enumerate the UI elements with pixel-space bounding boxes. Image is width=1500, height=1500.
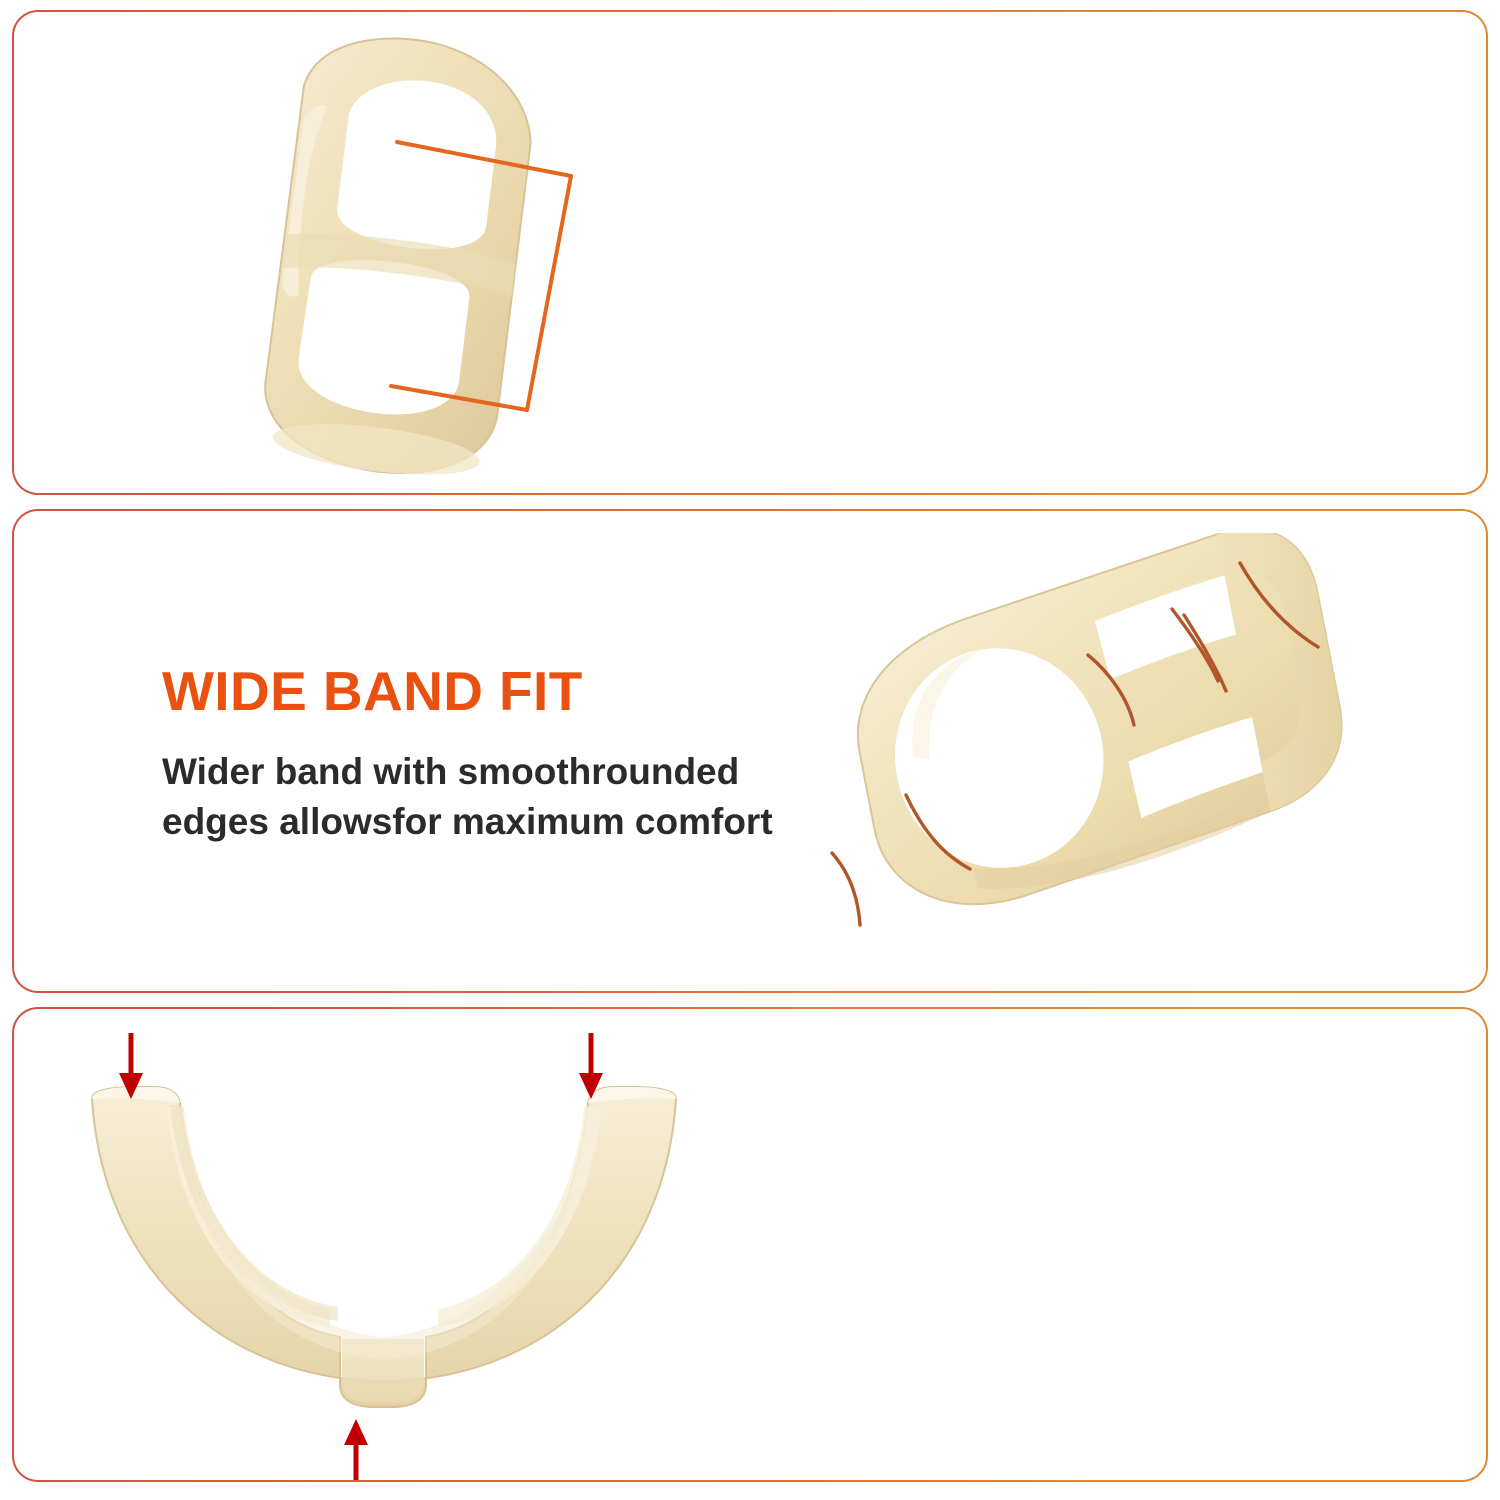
bracket-outline xyxy=(391,142,571,410)
panel-inner: WIDE BAND FIT Wider band with smoothroun… xyxy=(14,511,1486,991)
feature-text-wide-band-fit: WIDE BAND FIT Wider band with smoothroun… xyxy=(162,662,792,847)
product-image-open-air-design xyxy=(14,12,814,493)
panel-inner: 3POINTS OF PRESSURE Effectively stabiliz… xyxy=(14,1009,1486,1480)
splint-angled-photo xyxy=(802,533,1372,953)
product-image-wide-band-fit xyxy=(792,511,1486,991)
arc-outer-left xyxy=(832,853,860,925)
product-image-three-points-of-pressure xyxy=(14,1009,814,1480)
pressure-arrow-up-center-icon xyxy=(339,1417,373,1480)
panel-body: Wider band with smoothrounded edges allo… xyxy=(162,747,792,846)
open-bracket-annotation-icon xyxy=(389,124,659,424)
feature-panel-open-air-design: OPEN ALR DESIGN Allows for breathability… xyxy=(12,10,1488,495)
feature-panel-wide-band-fit: WIDE BAND FIT Wider band with smoothroun… xyxy=(12,509,1488,993)
pressure-arrow-down-right-icon xyxy=(574,1031,608,1101)
panel-heading: WIDE BAND FIT xyxy=(162,662,792,721)
product-infographic: OPEN ALR DESIGN Allows for breathability… xyxy=(0,0,1500,1500)
pressure-arrow-down-left-icon xyxy=(114,1031,148,1101)
feature-panel-three-points-of-pressure: 3POINTS OF PRESSURE Effectively stabiliz… xyxy=(12,1007,1488,1482)
panel-inner: OPEN ALR DESIGN Allows for breathability… xyxy=(14,12,1486,493)
splint-cradle-photo xyxy=(74,1069,694,1469)
